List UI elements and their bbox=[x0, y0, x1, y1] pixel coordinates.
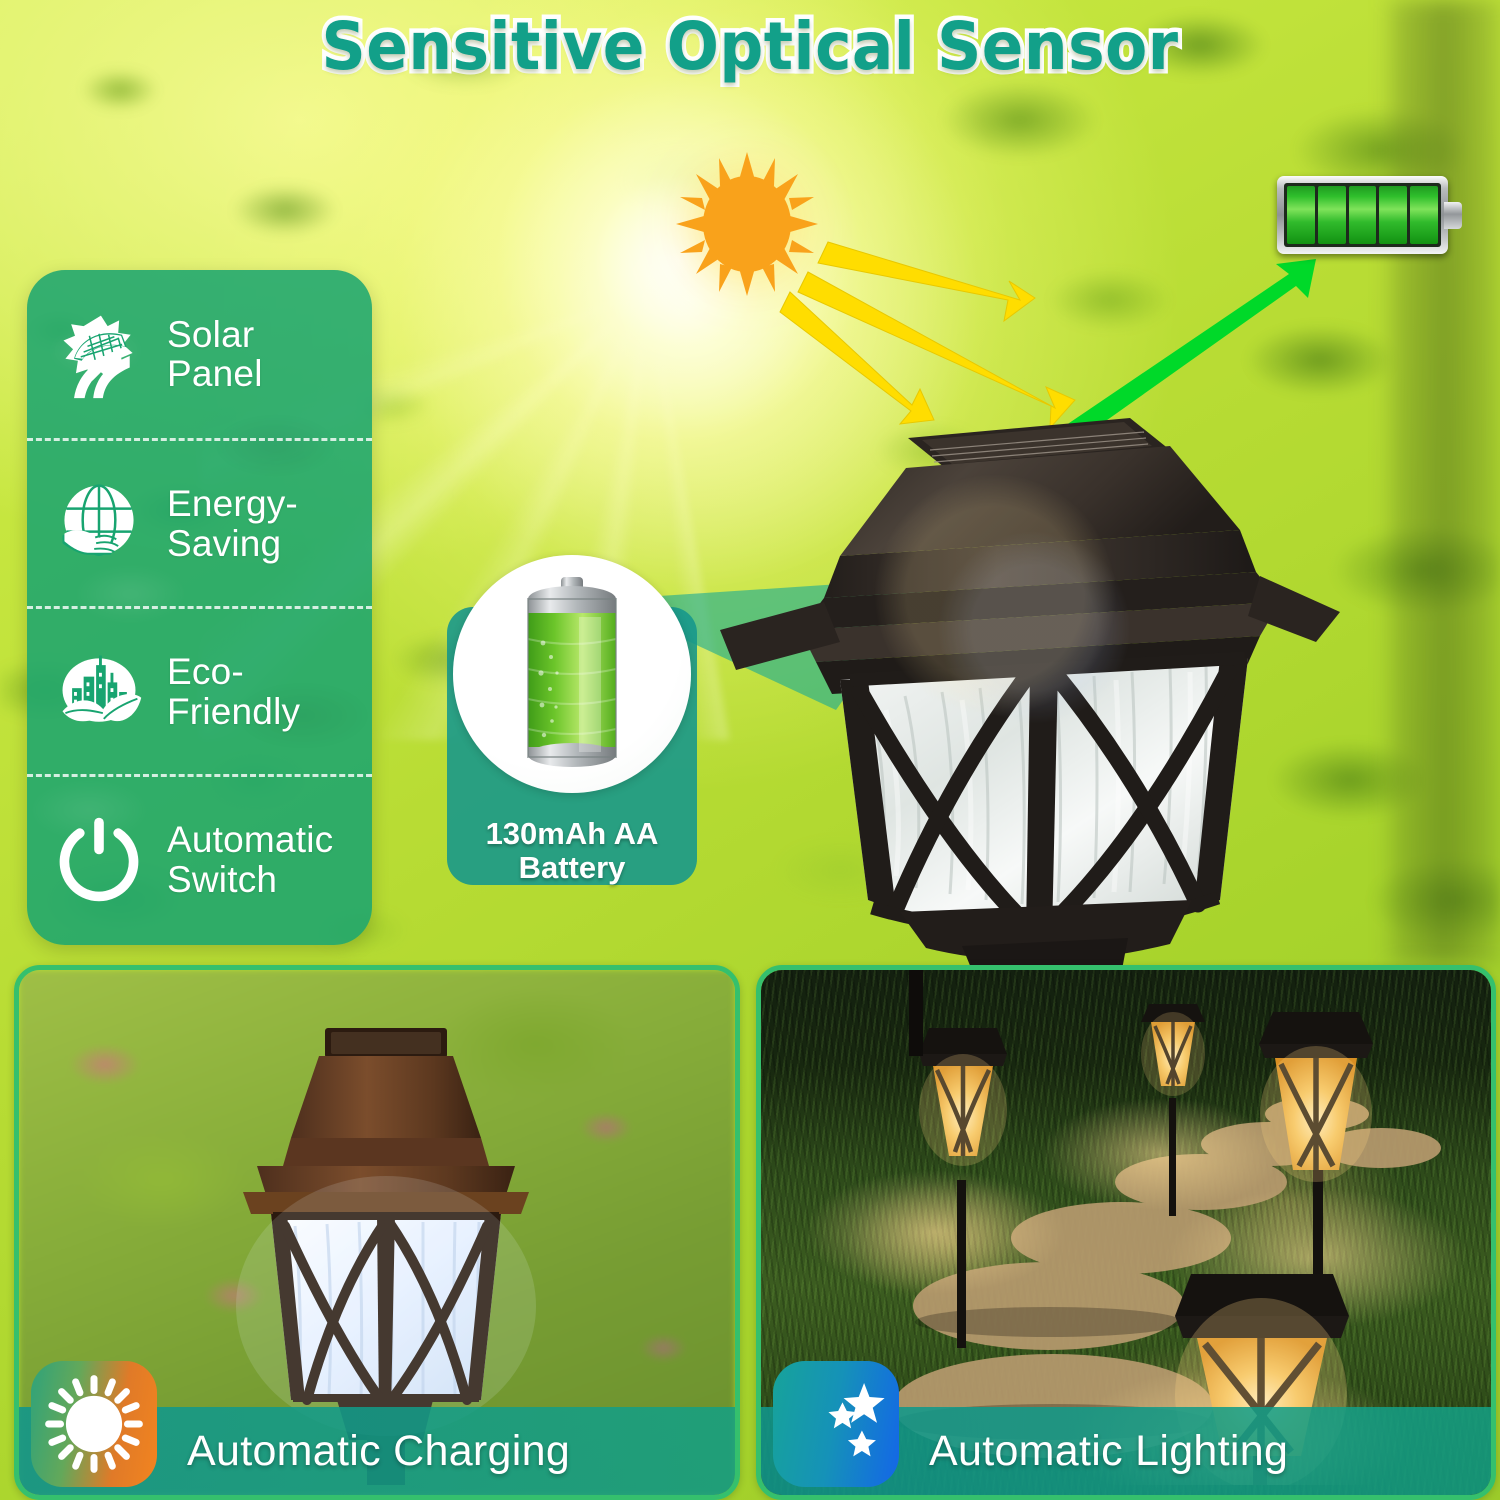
feature-item-solar-panel: SolarPanel bbox=[27, 270, 372, 438]
photo-automatic-lighting: Automatic Lighting bbox=[756, 965, 1496, 1500]
solar-panel-icon bbox=[51, 306, 147, 402]
sun-icon bbox=[672, 150, 822, 300]
feature-list-panel: SolarPanel bbox=[27, 270, 372, 945]
caption-label: Automatic Charging bbox=[187, 1427, 570, 1476]
feature-item-eco-friendly: Eco-Friendly bbox=[27, 606, 372, 774]
feature-item-automatic-switch: AutomaticSwitch bbox=[27, 774, 372, 942]
feature-label: AutomaticSwitch bbox=[167, 820, 333, 898]
solar-path-light-icon bbox=[700, 380, 1340, 980]
background-tree-trunk bbox=[1390, 0, 1500, 965]
city-leaf-icon bbox=[51, 644, 147, 740]
infographic-canvas: Sensitive Optical Sensor bbox=[0, 0, 1500, 1500]
feature-label: Eco-Friendly bbox=[167, 652, 300, 730]
caption-label: Automatic Lighting bbox=[929, 1427, 1288, 1476]
battery-callout-label: 130mAh AABattery bbox=[447, 817, 697, 885]
feature-label: SolarPanel bbox=[167, 315, 263, 393]
feature-label: Energy-Saving bbox=[167, 484, 298, 562]
moon-stars-badge-icon bbox=[773, 1361, 899, 1487]
battery-callout: 130mAh AABattery bbox=[447, 555, 697, 885]
battery-full-icon bbox=[1277, 176, 1462, 254]
globe-hand-icon bbox=[51, 476, 147, 572]
sun-badge-icon bbox=[31, 1361, 157, 1487]
feature-item-energy-saving: Energy-Saving bbox=[27, 438, 372, 606]
aa-battery-cell-icon bbox=[517, 577, 627, 772]
power-switch-icon bbox=[51, 812, 147, 908]
page-title: Sensitive Optical Sensor bbox=[53, 8, 1448, 85]
photo-automatic-charging: Automatic Charging bbox=[14, 965, 740, 1500]
